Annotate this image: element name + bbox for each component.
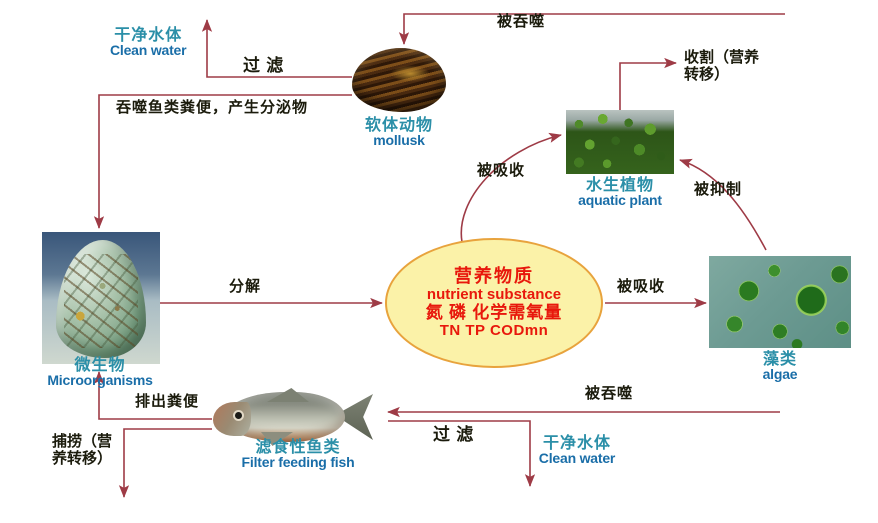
node-aquatic-plant: 水生植物 aquatic plant <box>560 178 680 208</box>
edge-label-decompose: 分解 <box>229 279 261 296</box>
diagram-canvas: 营养物质 nutrient substance 氮 磷 化学需氧量 TN TP … <box>0 0 878 523</box>
clean-water-top-label-en: Clean water <box>110 43 186 57</box>
node-mollusk: 软体动物 mollusk <box>352 118 446 148</box>
edge-harvest-fish <box>124 429 212 497</box>
edge-label-devour-top: 被吞噬 <box>497 14 545 31</box>
algae-label-en: algae <box>740 367 820 381</box>
hub-title-zh: 营养物质 <box>454 267 534 286</box>
edge-label-inhibited: 被抑制 <box>694 182 742 199</box>
aquatic-plant-label-en: aquatic plant <box>560 193 680 207</box>
edge-inhibited <box>680 160 766 250</box>
hub-title-en: nutrient substance <box>427 287 561 303</box>
edge-absorbed-by-plant <box>461 135 561 242</box>
edge-label-devour-bottom: 被吞噬 <box>585 386 633 403</box>
aquatic-plant-image <box>566 110 674 174</box>
nutrient-substance-hub: 营养物质 nutrient substance 氮 磷 化学需氧量 TN TP … <box>385 238 603 368</box>
microorganisms-image <box>42 232 160 364</box>
node-clean-water-bottom: 干净水体 Clean water <box>527 436 627 466</box>
microorganisms-label-en: Microorganisms <box>20 373 180 387</box>
water-droplet-shape <box>56 240 146 358</box>
mollusk-label-en: mollusk <box>352 133 446 147</box>
node-clean-water-top: 干净水体 Clean water <box>110 28 186 58</box>
fish-eye <box>235 412 242 419</box>
filter-fish-label-en: Filter feeding fish <box>218 455 378 469</box>
node-filter-feeding-fish: 滤食性鱼类 Filter feeding fish <box>218 440 378 470</box>
fish-head <box>213 402 251 436</box>
algae-image <box>709 256 851 348</box>
edge-label-filter-top: 过 滤 <box>243 56 284 75</box>
node-microorganisms: 微生物 Microorganisms <box>20 358 180 388</box>
edge-label-absorbed-by-plant: 被吸收 <box>477 163 525 180</box>
edge-label-mollusk-to-micro: 吞噬鱼类粪便，产生分泌物 <box>116 100 308 117</box>
edge-label-absorbed-by-algae: 被吸收 <box>617 279 665 296</box>
edge-devour-top <box>404 14 785 44</box>
edge-label-harvest-fish: 捕捞（营养转移） <box>52 434 124 468</box>
node-algae: 藻类 algae <box>740 352 820 382</box>
hub-params-zh: 氮 磷 化学需氧量 <box>426 304 563 322</box>
filter-feeding-fish-image <box>205 388 375 446</box>
mollusk-image <box>352 48 446 112</box>
clean-water-bottom-label-en: Clean water <box>527 451 627 465</box>
edge-label-excrete-feces: 排出粪便 <box>135 394 199 411</box>
edge-label-filter-bottom: 过 滤 <box>433 425 474 444</box>
edge-harvest-plant <box>620 63 676 110</box>
hub-params-en: TN TP CODmn <box>440 323 549 339</box>
edge-label-harvest-plant: 收割（营养转移） <box>684 50 764 84</box>
